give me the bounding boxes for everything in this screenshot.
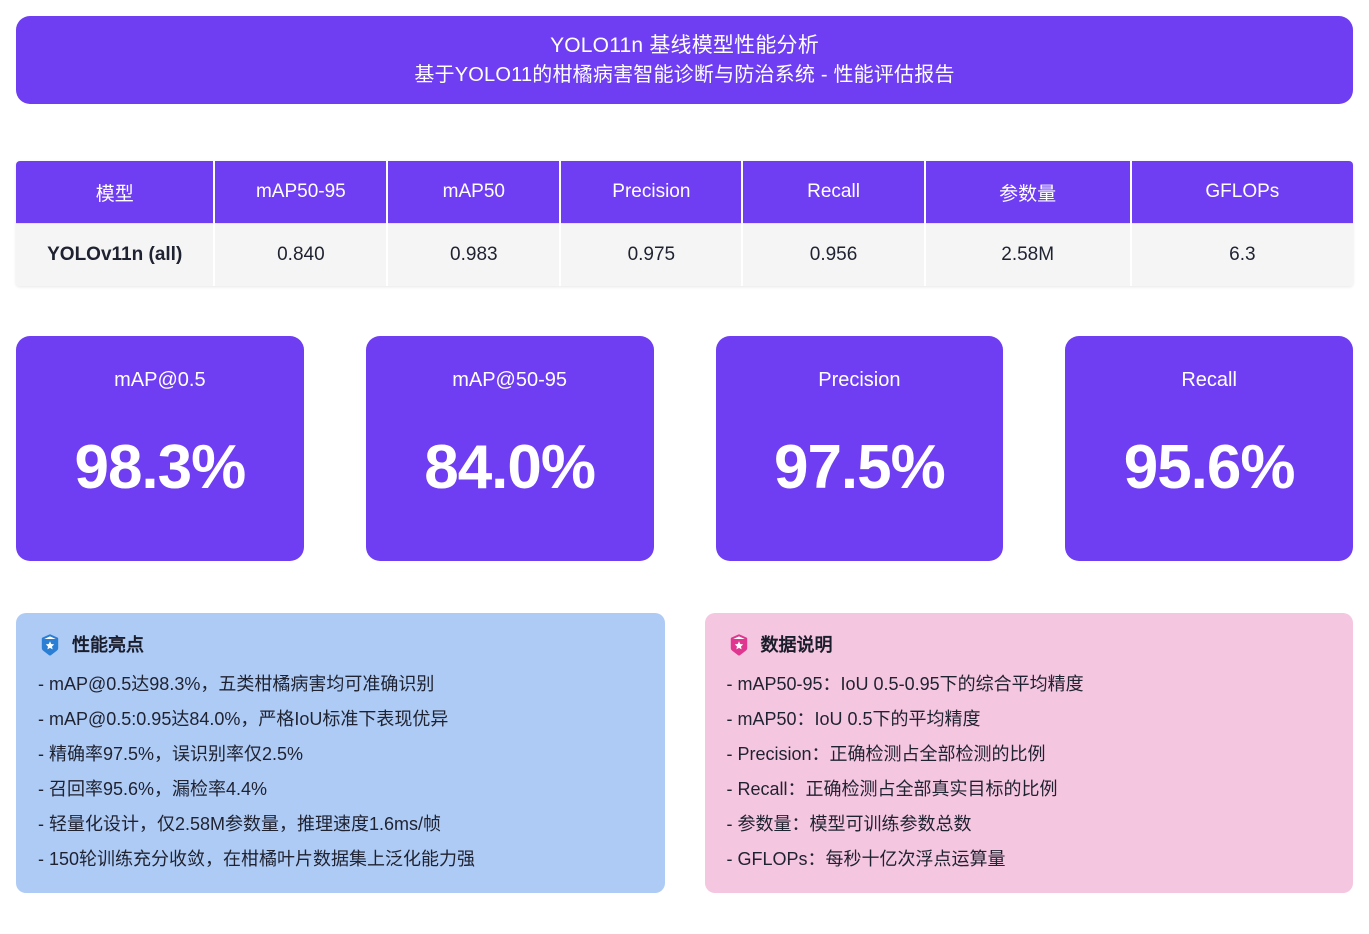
highlights-list: - mAP@0.5达98.3%，五类柑橘病害均可准确识别 - mAP@0.5:0…	[38, 675, 643, 885]
shield-star-icon	[38, 633, 62, 657]
notes-list: - mAP50-95：IoU 0.5-0.95下的综合平均精度 - mAP50：…	[727, 675, 1332, 885]
list-item: - 150轮训练充分收敛，在柑橘叶片数据集上泛化能力强	[38, 850, 643, 885]
kpi-value: 95.6%	[1124, 437, 1295, 499]
table-row: YOLOv11n (all) 0.840 0.983 0.975 0.956 2…	[16, 224, 1353, 287]
list-item: - GFLOPs：每秒十亿次浮点运算量	[727, 850, 1332, 885]
column-header-gflops: GFLOPs	[1131, 161, 1353, 224]
panel-title: 数据说明	[761, 636, 833, 654]
cell-map50-95: 0.840	[214, 224, 387, 287]
kpi-label: mAP@50-95	[452, 370, 567, 390]
kpi-card-map50-95: mAP@50-95 84.0%	[366, 336, 654, 561]
column-header-params: 参数量	[925, 161, 1131, 224]
panel-title: 性能亮点	[72, 636, 144, 654]
cell-params: 2.58M	[925, 224, 1131, 287]
list-item: - 精确率97.5%，误识别率仅2.5%	[38, 745, 643, 780]
cell-recall: 0.956	[742, 224, 924, 287]
data-notes-panel: 数据说明 - mAP50-95：IoU 0.5-0.95下的综合平均精度 - m…	[705, 613, 1354, 893]
list-item: - mAP@0.5:0.95达84.0%，严格IoU标准下表现优异	[38, 710, 643, 745]
report-header: YOLO11n 基线模型性能分析 基于YOLO11的柑橘病害智能诊断与防治系统 …	[16, 16, 1353, 104]
kpi-value: 84.0%	[424, 437, 595, 499]
kpi-card-row: mAP@0.5 98.3% mAP@50-95 84.0% Precision …	[16, 336, 1353, 561]
list-item: - mAP50-95：IoU 0.5-0.95下的综合平均精度	[727, 675, 1332, 710]
list-item: - 轻量化设计，仅2.58M参数量，推理速度1.6ms/帧	[38, 815, 643, 850]
cell-model: YOLOv11n (all)	[16, 224, 214, 287]
list-item: - mAP50：IoU 0.5下的平均精度	[727, 710, 1332, 745]
kpi-card-precision: Precision 97.5%	[716, 336, 1004, 561]
info-panel-row: 性能亮点 - mAP@0.5达98.3%，五类柑橘病害均可准确识别 - mAP@…	[16, 613, 1353, 893]
kpi-card-recall: Recall 95.6%	[1065, 336, 1353, 561]
kpi-card-map50: mAP@0.5 98.3%	[16, 336, 304, 561]
metrics-table-container: 模型 mAP50-95 mAP50 Precision Recall 参数量 G…	[16, 161, 1353, 286]
list-item: - 召回率95.6%，漏检率4.4%	[38, 780, 643, 815]
list-item: - mAP@0.5达98.3%，五类柑橘病害均可准确识别	[38, 675, 643, 710]
column-header-map50: mAP50	[387, 161, 560, 224]
kpi-label: Recall	[1181, 370, 1237, 390]
column-header-precision: Precision	[560, 161, 742, 224]
cell-map50: 0.983	[387, 224, 560, 287]
cell-gflops: 6.3	[1131, 224, 1353, 287]
metrics-table: 模型 mAP50-95 mAP50 Precision Recall 参数量 G…	[16, 161, 1353, 286]
performance-highlights-panel: 性能亮点 - mAP@0.5达98.3%，五类柑橘病害均可准确识别 - mAP@…	[16, 613, 665, 893]
kpi-label: Precision	[818, 370, 900, 390]
page-title: YOLO11n 基线模型性能分析	[550, 35, 819, 56]
list-item: - Recall：正确检测占全部真实目标的比例	[727, 780, 1332, 815]
panel-header: 性能亮点	[38, 633, 643, 657]
kpi-label: mAP@0.5	[114, 370, 205, 390]
list-item: - 参数量：模型可训练参数总数	[727, 815, 1332, 850]
column-header-model: 模型	[16, 161, 214, 224]
table-header: 模型 mAP50-95 mAP50 Precision Recall 参数量 G…	[16, 161, 1353, 224]
panel-header: 数据说明	[727, 633, 1332, 657]
report-page: YOLO11n 基线模型性能分析 基于YOLO11的柑橘病害智能诊断与防治系统 …	[0, 0, 1369, 934]
kpi-value: 97.5%	[774, 437, 945, 499]
kpi-value: 98.3%	[74, 437, 245, 499]
list-item: - Precision：正确检测占全部检测的比例	[727, 745, 1332, 780]
table-body: YOLOv11n (all) 0.840 0.983 0.975 0.956 2…	[16, 224, 1353, 287]
column-header-map50-95: mAP50-95	[214, 161, 387, 224]
table-header-row: 模型 mAP50-95 mAP50 Precision Recall 参数量 G…	[16, 161, 1353, 224]
column-header-recall: Recall	[742, 161, 924, 224]
cell-precision: 0.975	[560, 224, 742, 287]
page-subtitle: 基于YOLO11的柑橘病害智能诊断与防治系统 - 性能评估报告	[414, 65, 954, 85]
shield-star-icon	[727, 633, 751, 657]
